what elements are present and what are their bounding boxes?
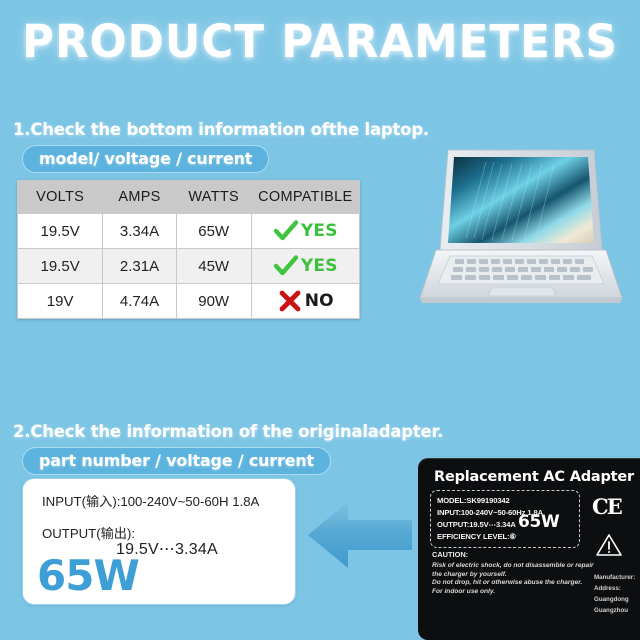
wattage-highlight: 65W [37,551,139,600]
caution-title: CAUTION: [432,550,584,559]
column-header-compatible: COMPATIBLE [251,181,359,214]
step-2-heading: 2.Check the information of the originala… [13,422,443,441]
cell-volts: 19.5V [18,214,103,249]
cell-amps: 4.74A [103,284,177,319]
ce-mark-icon: CE [592,494,621,519]
cell-compatible: YES [251,214,359,249]
cell-volts: 19V [18,284,103,319]
left-arrow-icon [306,496,414,574]
cell-amps: 2.31A [103,249,177,284]
adapter-spec-model: MODEL:SK99190342 [437,496,510,505]
column-header-amps: AMPS [103,181,177,214]
warning-triangle-icon [596,533,622,557]
ac-adapter-label: Replacement AC Adapter MODEL:SK99190342 … [418,458,640,640]
step-2-pill-badge: part number / voltage / current [22,447,331,475]
compatible-label: YES [301,221,338,241]
cell-amps: 3.34A [103,214,177,249]
caution-line: For indoor use only. [432,588,584,597]
adapter-spec-efficiency: EFFICIENCY LEVEL:⑥ [437,532,516,541]
column-header-watts: WATTS [176,181,251,214]
check-icon [273,218,299,244]
cell-watts: 65W [176,214,251,249]
compatible-label: YES [301,256,338,276]
table-row: 19V 4.74A 90W NO [18,284,360,319]
cell-compatible: NO [251,284,359,319]
check-icon [273,253,299,279]
cell-compatible: YES [251,249,359,284]
caution-block: CAUTION: Risk of electric shock, do not … [432,550,584,596]
cell-watts: 90W [176,284,251,319]
adapter-spec-output: OUTPUT:19.5V⋯3.34A [437,520,516,529]
table-row: 19.5V 2.31A 45W YES [18,249,360,284]
manufacturer-line: Guangzhou [594,607,628,614]
adapter-title: Replacement AC Adapter [434,469,634,485]
cell-watts: 45W [176,249,251,284]
table-header-row: VOLTS AMPS WATTS COMPATIBLE [18,181,360,214]
input-spec-line: INPUT(输入):100-240V~50-60H 1.8A [42,491,259,510]
manufacturer-line: Guangdong [594,596,629,603]
column-header-volts: VOLTS [18,181,103,214]
caution-line: Do not drop, hit or otherwise abuse the … [432,579,584,588]
compatibility-table: VOLTS AMPS WATTS COMPATIBLE 19.5V 3.34A … [17,180,360,319]
page-title: PRODUCT PARAMETERS [10,16,631,68]
caution-line: the charger by yourself. [432,571,584,580]
table-row: 19.5V 3.34A 65W YES [18,214,360,249]
cross-icon [277,288,303,314]
laptop-illustration [414,138,628,334]
compatible-label: NO [305,291,334,311]
manufacturer-line: Manufacturer: [594,574,635,581]
step-1-heading: 1.Check the bottom information ofthe lap… [13,120,429,139]
cell-volts: 19.5V [18,249,103,284]
adapter-wattage: 65W [518,512,560,532]
manufacturer-line: Address: [594,585,621,592]
caution-line: Risk of electric shock, do not disassemb… [432,562,584,571]
adapter-info-box: INPUT(输入):100-240V~50-60H 1.8A OUTPUT(输出… [22,478,296,605]
step-1-pill-badge: model/ voltage / current [22,145,269,173]
